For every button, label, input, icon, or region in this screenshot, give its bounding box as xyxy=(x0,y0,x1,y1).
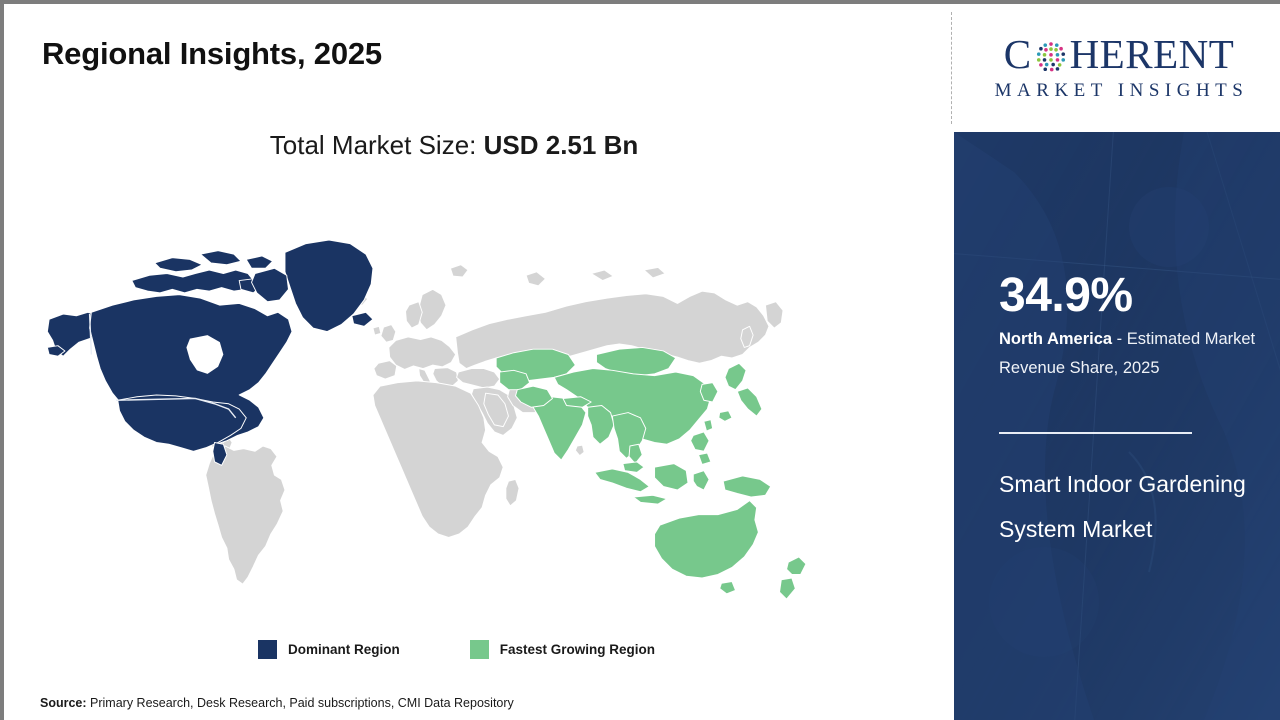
source-note: Source: Primary Research, Desk Research,… xyxy=(40,696,514,710)
market-size-label: Total Market Size: xyxy=(270,130,484,160)
brand-logo: C xyxy=(954,4,1280,132)
stat-panel: 34.9% North America - Estimated Market R… xyxy=(954,132,1280,720)
dotted-globe-icon xyxy=(1033,39,1069,75)
stat-horizontal-rule xyxy=(999,432,1192,434)
logo-wordmark: C xyxy=(1004,34,1235,75)
left-content-pane: Regional Insights, 2025 Total Market Siz… xyxy=(4,4,951,720)
world-map xyxy=(28,182,908,622)
logo-letter-c: C xyxy=(1004,34,1032,75)
map-region-asia-pacific xyxy=(496,347,806,599)
map-legend: Dominant Region Fastest Growing Region xyxy=(4,640,909,659)
legend-item-fastest-growing: Fastest Growing Region xyxy=(470,640,655,659)
vertical-dashed-divider xyxy=(951,12,952,124)
source-text: Primary Research, Desk Research, Paid su… xyxy=(87,696,514,710)
slide-canvas: Regional Insights, 2025 Total Market Siz… xyxy=(0,0,1280,720)
page-title: Regional Insights, 2025 xyxy=(42,36,382,72)
legend-item-dominant: Dominant Region xyxy=(258,640,400,659)
market-size-value: USD 2.51 Bn xyxy=(484,130,639,160)
market-title: Smart Indoor Gardening System Market xyxy=(999,462,1249,552)
stat-description: North America - Estimated Market Revenue… xyxy=(999,325,1267,383)
logo-tagline: MARKET INSIGHTS xyxy=(990,80,1249,102)
logo-letters-herent: HERENT xyxy=(1070,34,1235,75)
square-swatch-icon xyxy=(258,640,277,659)
stat-percentage: 34.9% xyxy=(999,272,1133,320)
legend-label-fastest-growing: Fastest Growing Region xyxy=(500,642,655,657)
stat-region-name: North America xyxy=(999,330,1112,348)
legend-label-dominant: Dominant Region xyxy=(288,642,400,657)
map-region-north-america xyxy=(47,240,373,465)
stat-content: 34.9% North America - Estimated Market R… xyxy=(999,132,1269,720)
world-map-svg xyxy=(28,182,908,622)
square-swatch-icon xyxy=(470,640,489,659)
source-prefix: Source: xyxy=(40,696,87,710)
right-rail: C xyxy=(954,4,1280,720)
total-market-size: Total Market Size: USD 2.51 Bn xyxy=(4,130,904,161)
